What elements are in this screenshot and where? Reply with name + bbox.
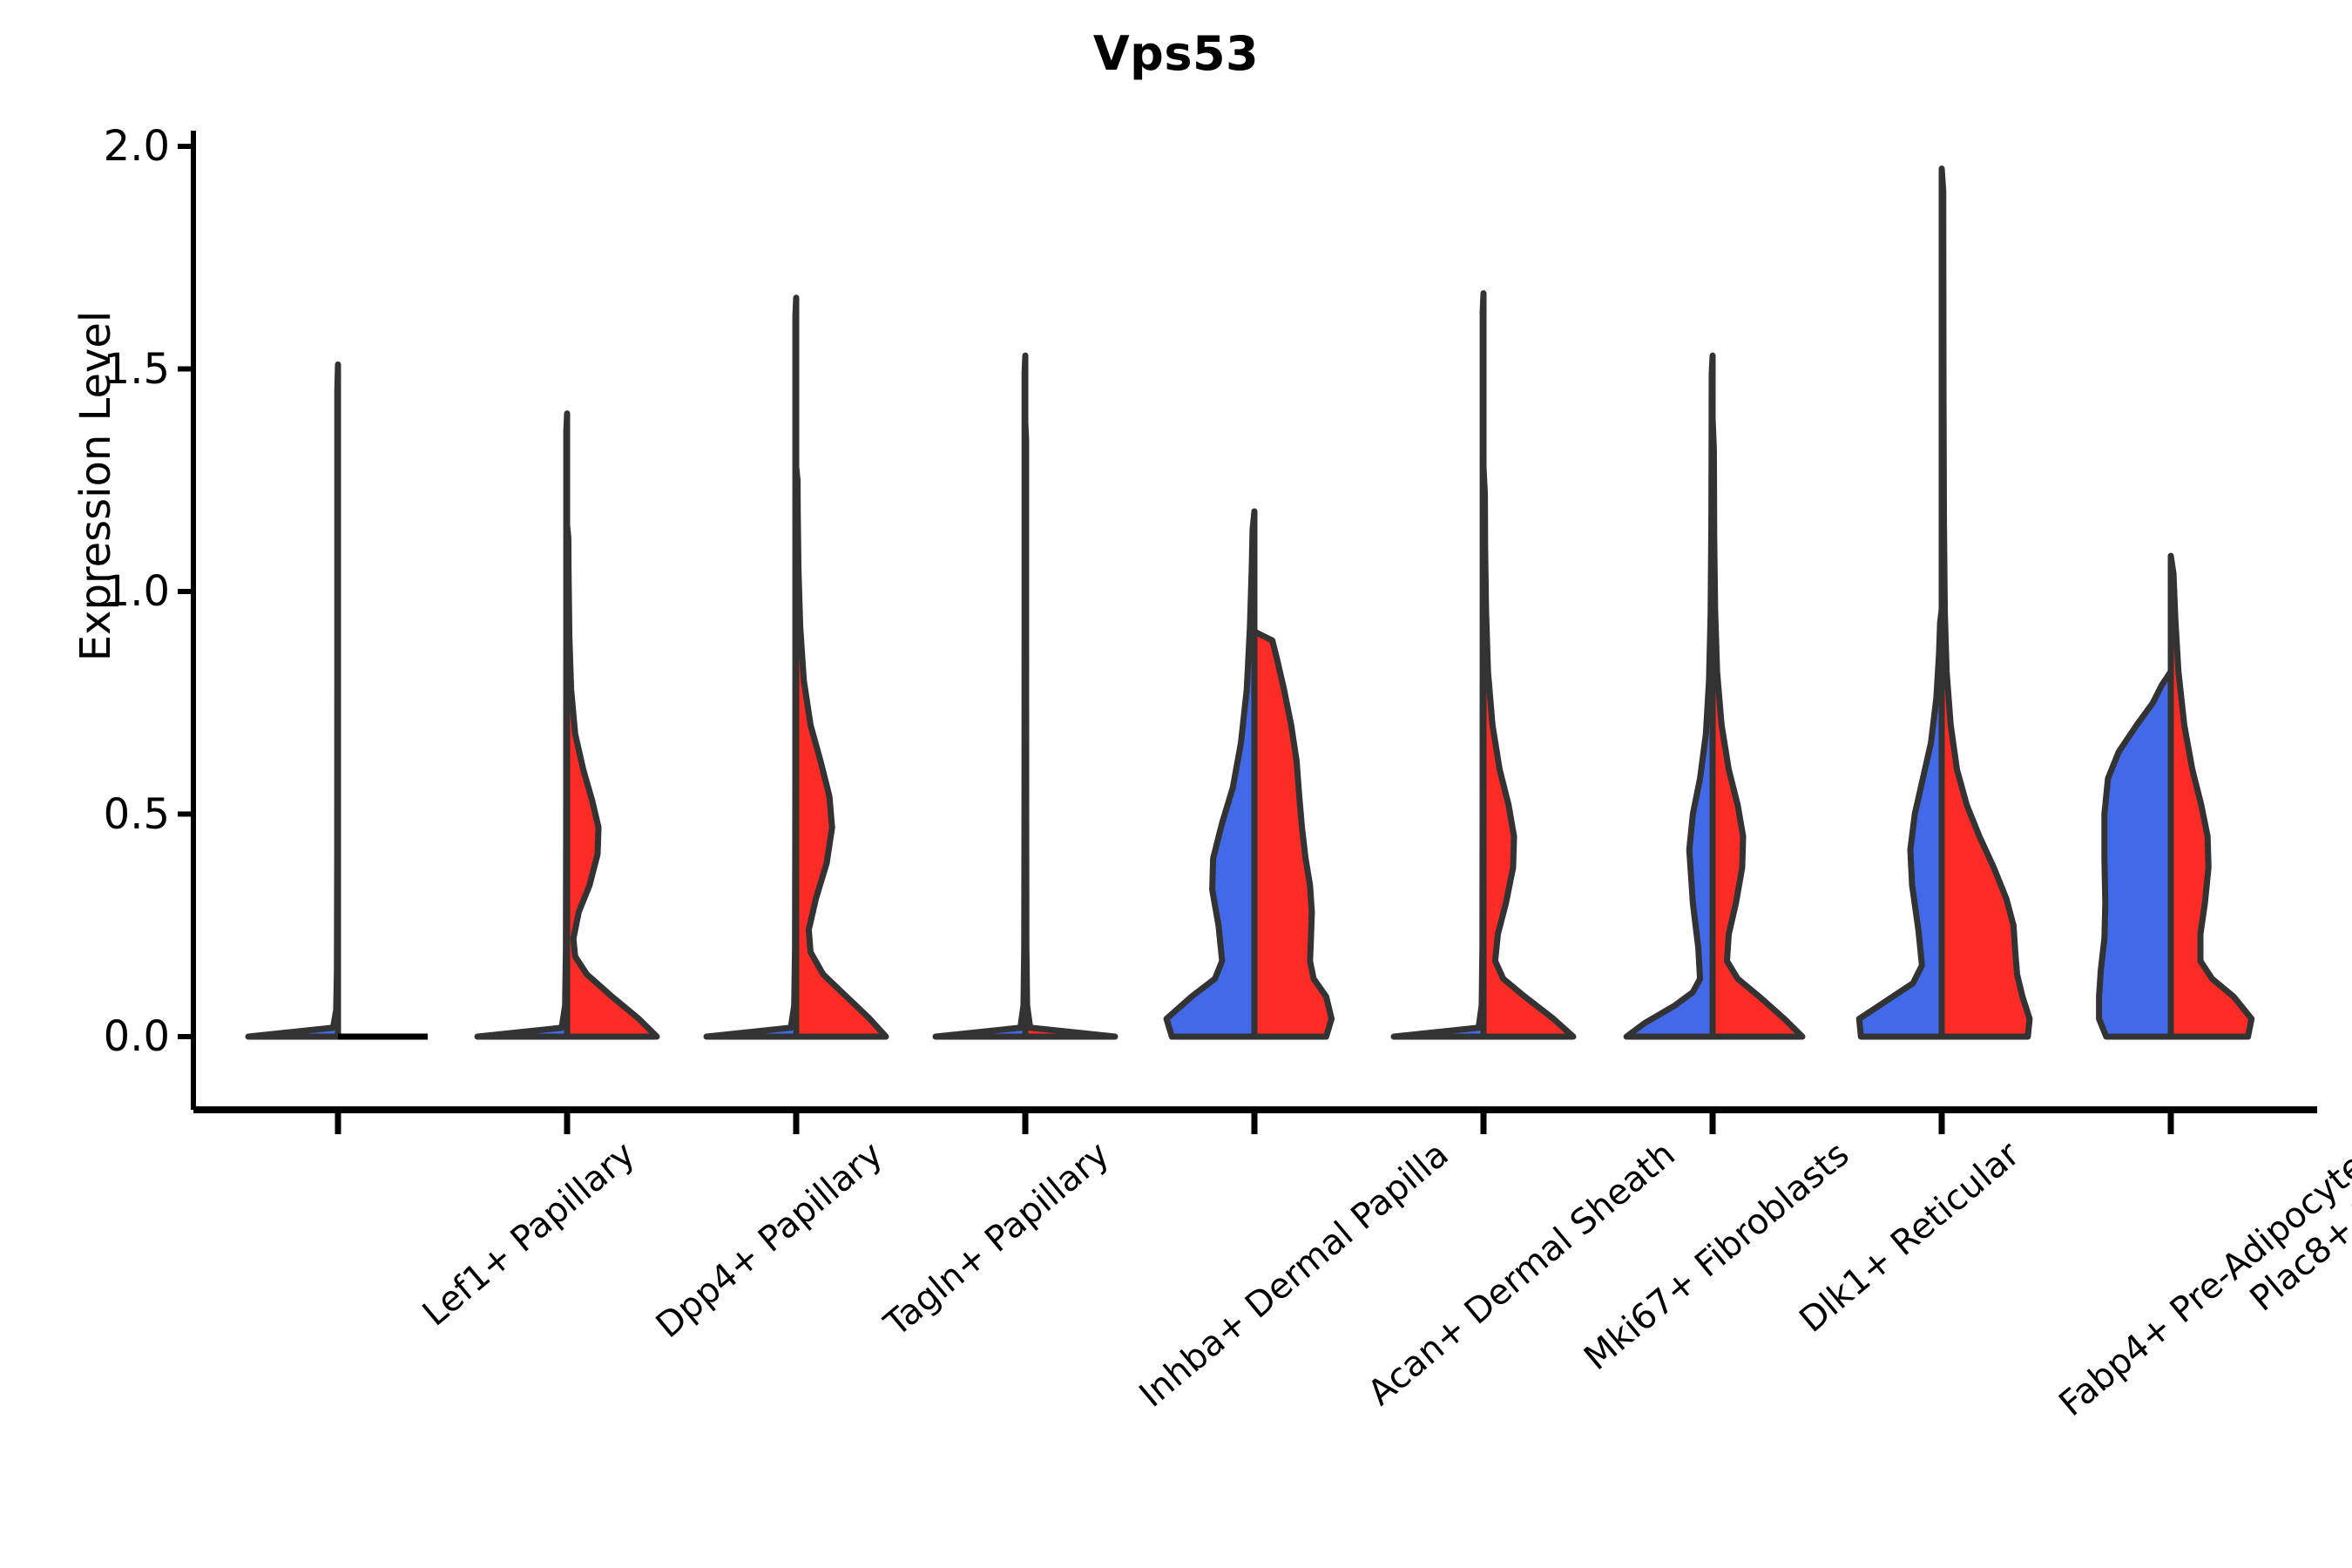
violin-half-right: Fabp4+ Pre-Adipocytes bbox=[1942, 169, 2030, 1037]
violin-half-left: Acan+ Dermal Sheath bbox=[1166, 511, 1254, 1037]
violin-half-right: Dpp4+ Papillary bbox=[567, 524, 657, 1037]
violin-half-left: Dlk1+ Reticular bbox=[1626, 355, 1713, 1037]
violin-half-right: Mki67+ Fibroblasts bbox=[1484, 467, 1573, 1037]
violin-half-left: Tagln+ Papillary bbox=[706, 298, 796, 1037]
violin-half-right: Dlk1+ Reticular bbox=[1713, 418, 1802, 1037]
violin-half-left: Fabp4+ Pre-Adipocytes bbox=[1859, 609, 1942, 1037]
violin-half-right: Plac8+ Fascia bbox=[2171, 556, 2252, 1037]
violin-half-left: Mki67+ Fibroblasts bbox=[1394, 294, 1484, 1037]
violin-half-left: Dpp4+ Papillary bbox=[477, 414, 567, 1037]
violin-plot-figure: Vps53 0.00.51.01.52.0 Expression Level L… bbox=[0, 0, 2352, 1568]
violin-half-left: Lef1+ Papillary bbox=[248, 364, 338, 1037]
violin-half-left: Plac8+ Fascia bbox=[2099, 672, 2171, 1037]
violin-half-right: Acan+ Dermal Sheath bbox=[1254, 632, 1332, 1037]
violin-half-right: Tagln+ Papillary bbox=[796, 467, 886, 1037]
violins-layer: Lef1+ PapillaryDpp4+ PapillaryDpp4+ Papi… bbox=[248, 169, 2252, 1037]
plot-area: Lef1+ PapillaryDpp4+ PapillaryDpp4+ Papi… bbox=[0, 0, 2352, 1568]
violin-half-right: Inhba+ Dermal Papilla bbox=[1025, 422, 1115, 1037]
violin-half-left: Inhba+ Dermal Papilla bbox=[936, 355, 1025, 1037]
